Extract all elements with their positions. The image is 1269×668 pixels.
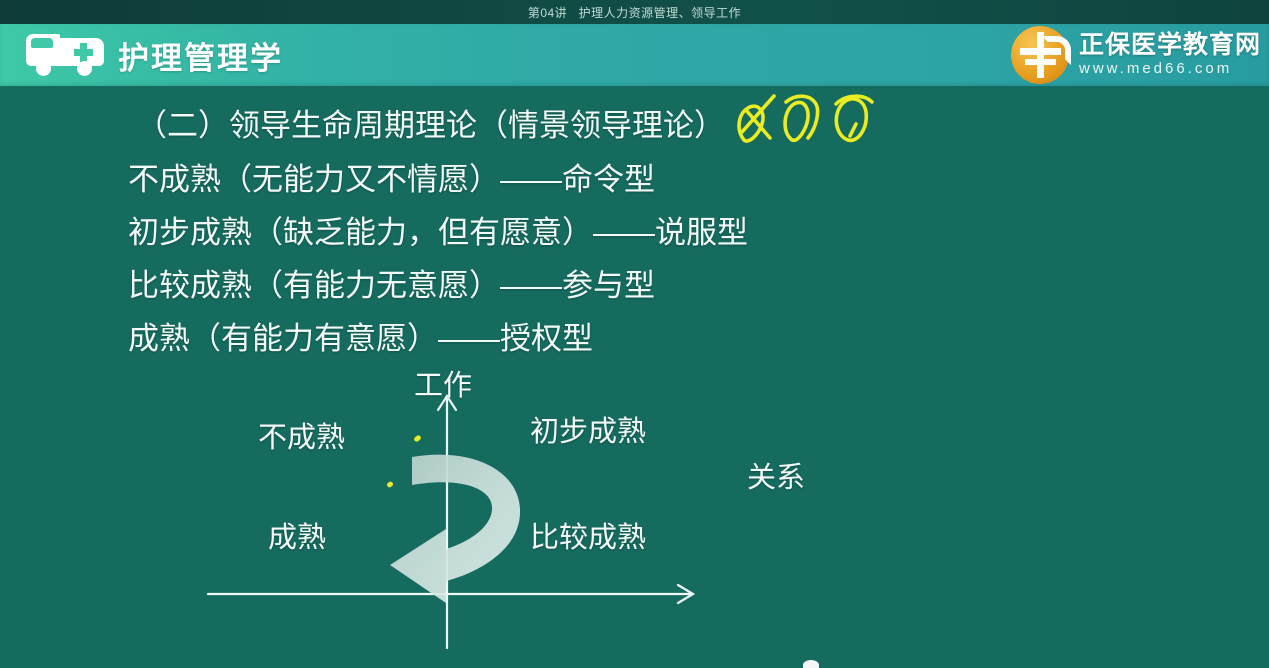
cross-logo-icon: [1011, 26, 1069, 84]
brand-text: 正保医学教育网 www.med66.com: [1079, 32, 1261, 78]
y-axis-label: 工作: [414, 362, 472, 404]
lecture-title-text: 第04讲 护理人力资源管理、领导工作: [528, 4, 741, 21]
cursor-blob: [803, 660, 819, 668]
course-title: 护理管理学: [118, 33, 283, 78]
slide-content: （二）领导生命周期理论（情景领导理论） 不成熟（无能力又不情愿）——命令型 初步…: [0, 86, 1269, 668]
quadrant-label-top-right: 初步成熟: [530, 408, 646, 450]
quadrant-label-top-left: 不成熟: [258, 414, 345, 456]
slide-line-immature: 不成熟（无能力又不情愿）——命令型: [128, 154, 655, 199]
curved-clockwise-arrow-icon: [350, 417, 560, 617]
quadrant-label-bottom-left: 成熟: [268, 514, 326, 556]
slide-line-fairly-mature: 比较成熟（有能力无意愿）——参与型: [128, 260, 655, 305]
slide-line-mature: 成熟（有能力有意愿）——授权型: [128, 313, 593, 358]
brand-name-cn: 正保医学教育网: [1079, 32, 1261, 58]
site-logo[interactable]: 正保医学教育网 www.med66.com: [1011, 25, 1261, 85]
brand-url: www.med66.com: [1079, 60, 1261, 78]
course-branding: 护理管理学: [26, 28, 283, 82]
quadrant-diagram: 工作 关系 不成熟 初步成熟 成熟 比较成熟: [190, 362, 830, 662]
yellow-handwritten-scribble-icon: [730, 88, 880, 150]
lecture-title-bar: 第04讲 护理人力资源管理、领导工作: [0, 0, 1269, 24]
slide-line-early-mature: 初步成熟（缺乏能力，但有愿意）——说服型: [128, 207, 748, 252]
slide-heading: （二）领导生命周期理论（情景领导理论）: [136, 100, 725, 145]
quadrant-label-bottom-right: 比较成熟: [530, 514, 646, 556]
video-player-screen: 第04讲 护理人力资源管理、领导工作 护理管理学: [0, 0, 1269, 668]
ambulance-icon: [26, 34, 104, 76]
course-header-bar: 护理管理学 正保医学教育网 www.med66.com: [0, 24, 1269, 86]
x-axis-label: 关系: [747, 454, 805, 496]
